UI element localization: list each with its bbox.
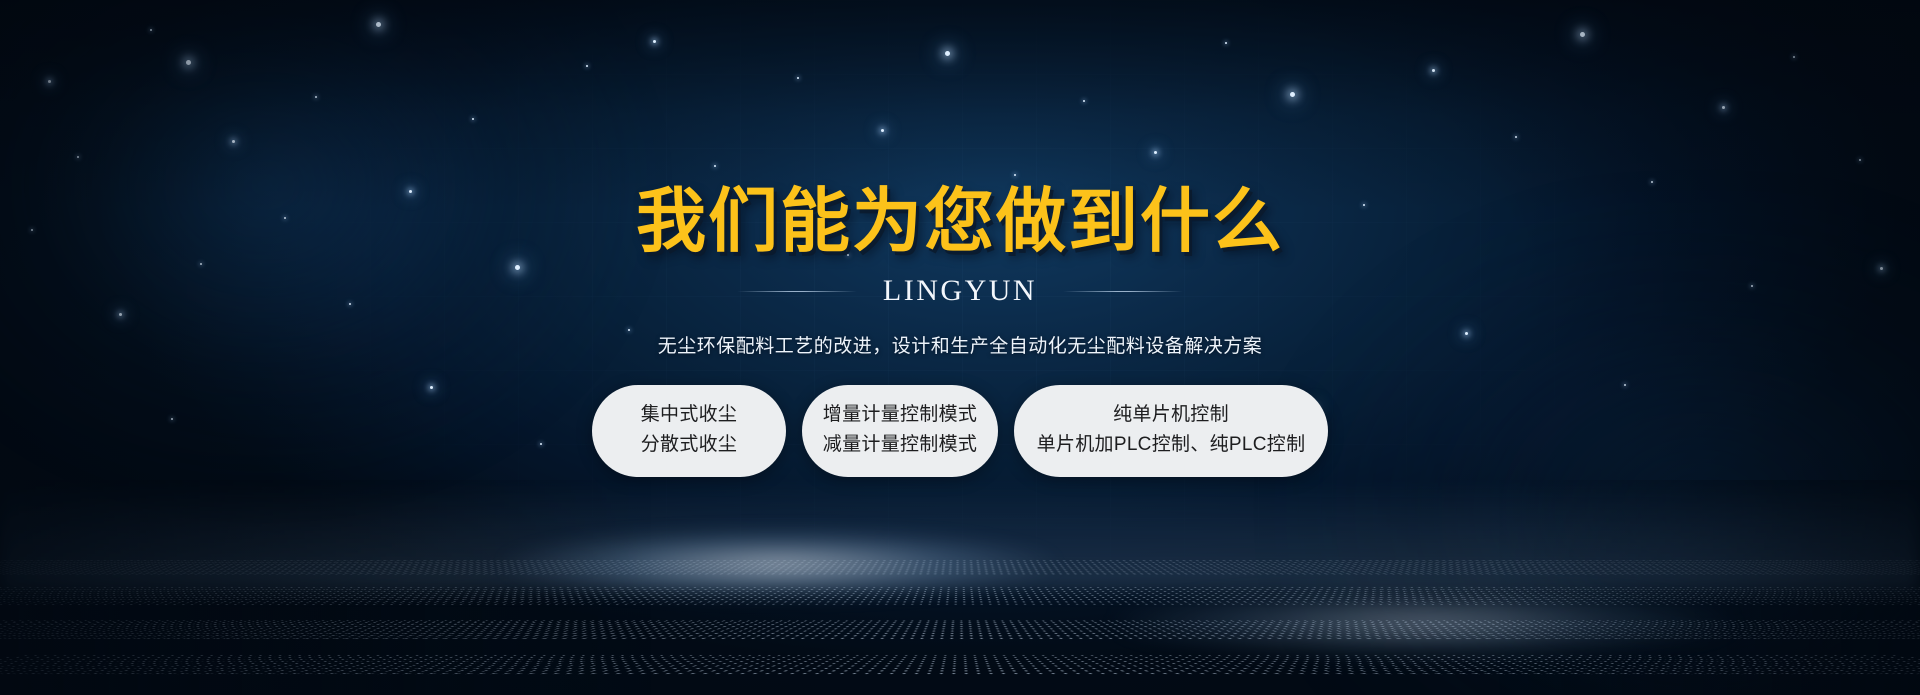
page-title: 我们能为您做到什么	[636, 186, 1284, 256]
feature-pill-control-system[interactable]: 纯单片机控制 单片机加PLC控制、纯PLC控制	[1014, 385, 1328, 477]
pill-line: 集中式收尘	[641, 405, 738, 426]
hero-description: 无尘环保配料工艺的改进，设计和生产全自动化无尘配料设备解决方案	[658, 331, 1263, 358]
subtitle-row: LINGYUN	[737, 274, 1183, 308]
pill-line: 分散式收尘	[641, 435, 738, 456]
feature-pill-metering-mode[interactable]: 增量计量控制模式 减量计量控制模式	[802, 385, 998, 477]
divider-line-left	[737, 291, 857, 292]
hero-content: 我们能为您做到什么 LINGYUN 无尘环保配料工艺的改进，设计和生产全自动化无…	[0, 0, 1920, 695]
pill-line: 纯单片机控制	[1113, 405, 1229, 426]
hero-banner: 我们能为您做到什么 LINGYUN 无尘环保配料工艺的改进，设计和生产全自动化无…	[0, 0, 1920, 695]
pill-line: 减量计量控制模式	[823, 435, 977, 456]
pill-line: 单片机加PLC控制、纯PLC控制	[1037, 435, 1306, 456]
pill-line: 增量计量控制模式	[823, 405, 977, 426]
brand-subtitle: LINGYUN	[883, 274, 1037, 308]
divider-line-right	[1063, 291, 1183, 292]
feature-pill-dust-collection[interactable]: 集中式收尘 分散式收尘	[592, 385, 786, 477]
feature-pill-group: 集中式收尘 分散式收尘 增量计量控制模式 减量计量控制模式 纯单片机控制 单片机…	[592, 385, 1328, 477]
